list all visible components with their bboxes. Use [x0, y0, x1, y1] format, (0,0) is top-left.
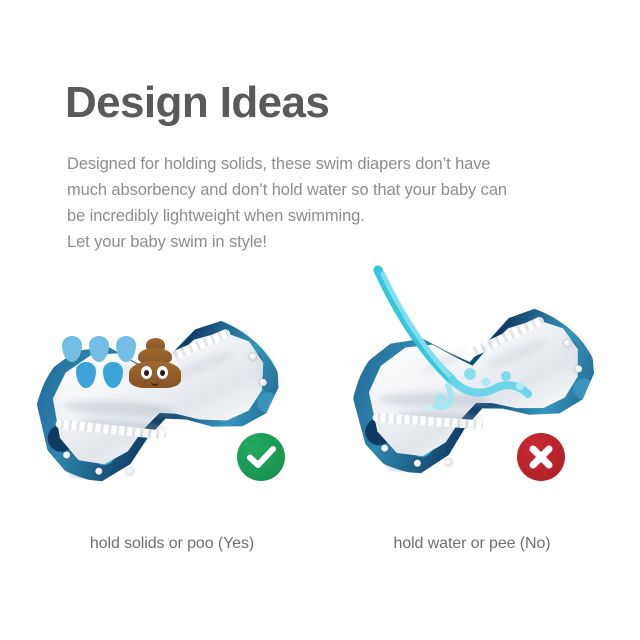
- description-paragraph: Designed for holding solids, these swim …: [67, 151, 587, 255]
- design-ideas-infographic: Design Ideas Designed for holding solids…: [0, 0, 640, 640]
- caption-no: hold water or pee (No): [312, 535, 632, 553]
- product-photo-water: [320, 262, 640, 512]
- description-line-2: much absorbency and don’t hold water so …: [67, 177, 587, 203]
- status-badge-yes: [237, 433, 285, 481]
- water-droplet-icon: [89, 336, 109, 362]
- description-line-3: be incredibly lightweight when swimming.: [67, 203, 587, 229]
- description-line-4: Let your baby swim in style!: [67, 229, 587, 255]
- product-photo-solids: [0, 262, 320, 512]
- status-badge-no: [517, 433, 565, 481]
- swim-diaper-illustration: [336, 285, 611, 492]
- poop-pupil-right: [160, 370, 165, 376]
- water-droplet-icon: [103, 362, 123, 388]
- water-droplet-icon: [76, 362, 96, 388]
- poop-emoji-icon: [128, 338, 182, 390]
- page-title: Design Ideas: [65, 78, 329, 128]
- snap-button: [444, 458, 452, 466]
- snap-button: [126, 467, 134, 475]
- water-droplet-icon: [62, 336, 82, 362]
- description-line-1: Designed for holding solids, these swim …: [67, 151, 587, 177]
- cross-icon: [517, 433, 565, 481]
- comparison-section: [0, 262, 640, 562]
- comparison-panel-yes: [0, 262, 320, 562]
- check-icon: [237, 433, 285, 481]
- poop-pupil-left: [144, 370, 149, 376]
- caption-yes: hold solids or poo (Yes): [12, 535, 332, 553]
- comparison-panel-no: [320, 262, 640, 562]
